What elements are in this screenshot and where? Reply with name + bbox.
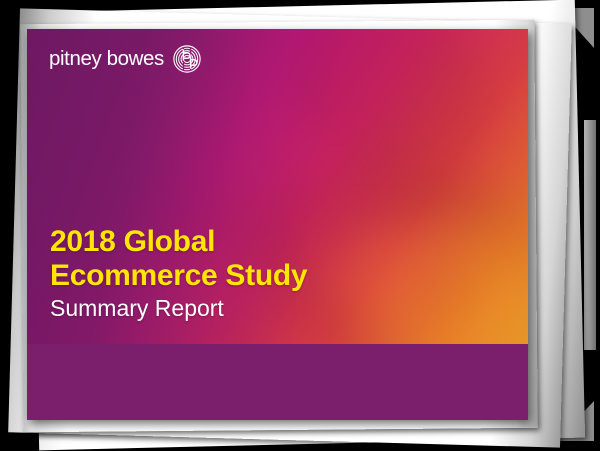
cover-title-line-2: Ecommerce Study [50,259,307,293]
pitney-bowes-logo: pitney bowes [49,45,201,73]
cover-title-block: 2018 Global Ecommerce Study Summary Repo… [50,225,307,324]
report-cover-page: pitney bowes [27,29,528,420]
report-cover-mockup: pitney bowes [0,0,600,451]
cover-title-line-1: 2018 Global [50,225,307,259]
pitney-bowes-circles-pb-mark-icon [173,45,201,73]
shadow-wedge-right-middle [584,120,596,350]
cover-subtitle: Summary Report [50,294,307,324]
logo-wordmark: pitney bowes [49,49,164,70]
cover-bottom-purple-band [27,344,528,420]
